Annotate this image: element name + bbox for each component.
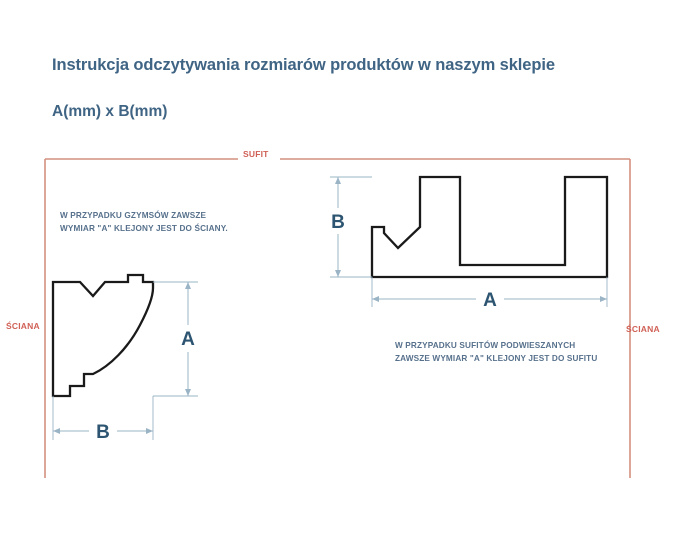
suspended-arrow-a-left [372,296,379,302]
suspended-label-b: B [331,212,345,233]
cornice-arrow-b-left [53,428,60,434]
cornice-profile-shape [53,275,153,396]
note-suspended-line2: ZAWSZE WYMIAR "A" KLEJONY JEST DO SUFITU [395,353,597,366]
suspended-profile-group [372,177,607,277]
wall-label-right: ŚCIANA [626,324,660,334]
cornice-arrow-a-top [185,282,191,289]
diagram-canvas: Instrukcja odczytywania rozmiarów produk… [0,0,675,540]
suspended-profile-shape [372,177,607,277]
cornice-arrow-b-right [146,428,153,434]
cornice-dimension-a: A [153,282,198,396]
suspended-arrow-b-top [335,177,341,184]
cornice-label-a: A [181,329,195,350]
note-cornice-line2: WYMIAR "A" KLEJONY JEST DO ŚCIANY. [60,223,228,236]
note-cornice-line1: W PRZYPADKU GZYMSÓW ZAWSZE [60,210,228,223]
ceiling-label: SUFIT [243,149,269,159]
suspended-dimension-b: B [330,177,372,277]
note-suspended: W PRZYPADKU SUFITÓW PODWIESZANYCH ZAWSZE… [395,340,597,365]
wall-label-left: ŚCIANA [6,321,40,331]
cornice-label-b: B [96,422,110,443]
suspended-label-a: A [483,290,497,311]
cornice-profile-group [53,275,153,396]
technical-drawing: A B B [0,0,675,540]
suspended-arrow-b-bottom [335,270,341,277]
note-cornice: W PRZYPADKU GZYMSÓW ZAWSZE WYMIAR "A" KL… [60,210,228,235]
cornice-dimension-b: B [53,396,153,443]
suspended-arrow-a-right [600,296,607,302]
cornice-arrow-a-bottom [185,389,191,396]
suspended-dimension-a: A [372,277,607,311]
note-suspended-line1: W PRZYPADKU SUFITÓW PODWIESZANYCH [395,340,597,353]
